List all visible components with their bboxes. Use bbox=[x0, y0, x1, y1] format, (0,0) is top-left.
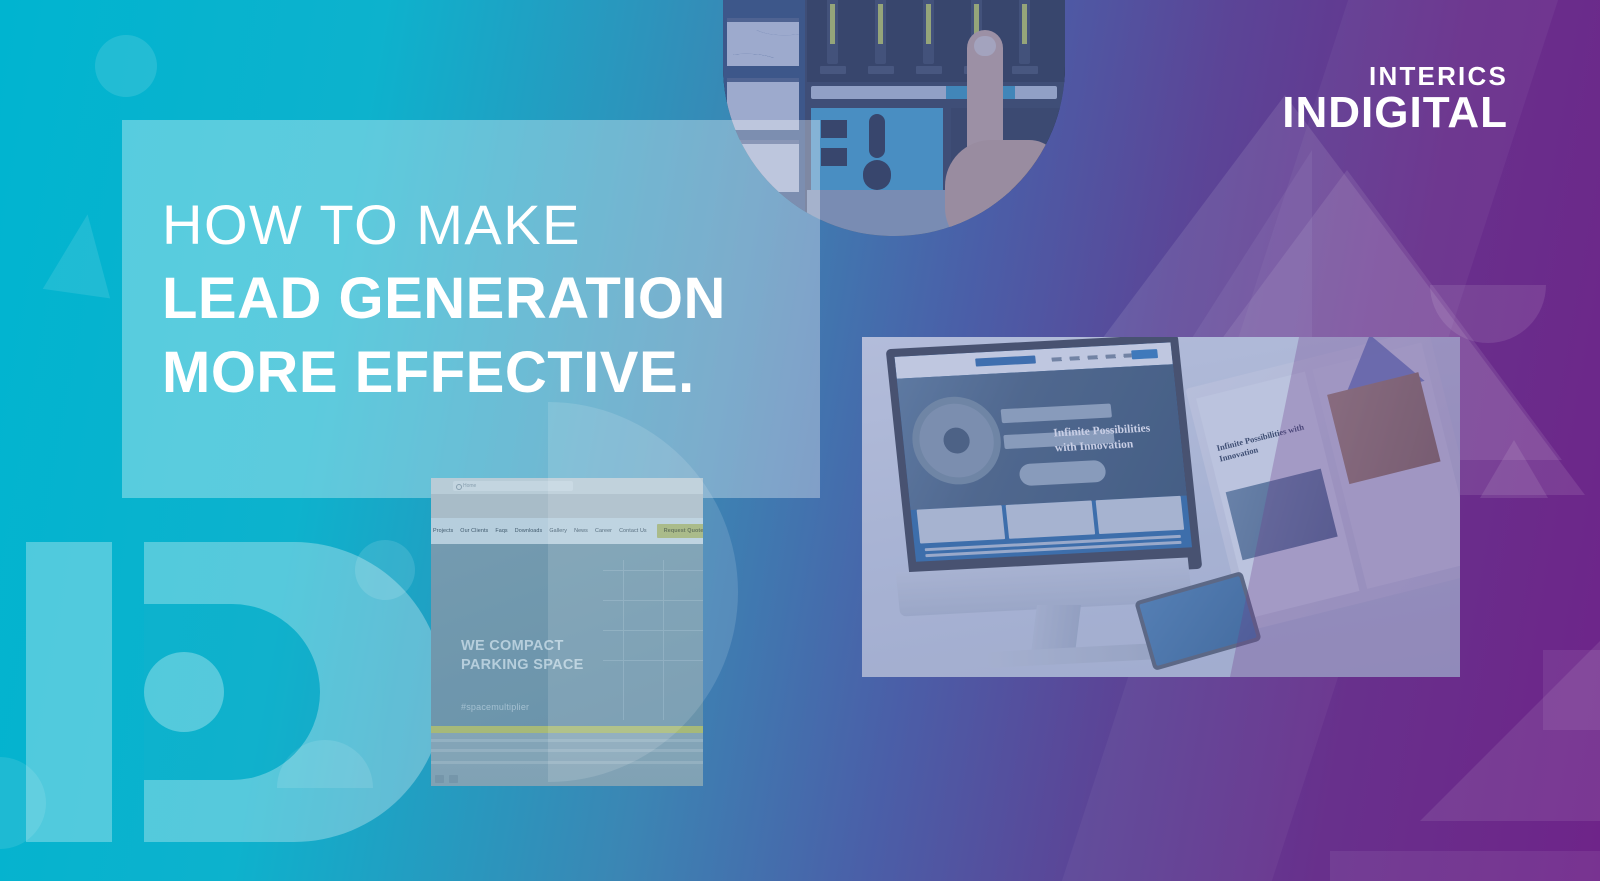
monogram-dot bbox=[144, 652, 224, 732]
square-decor-purple bbox=[1543, 650, 1600, 730]
brand-logo-line-2: INDIGITAL bbox=[1282, 90, 1508, 136]
photo-device-mockups: Infinite Possibilities with Innovation I… bbox=[862, 337, 1460, 677]
semicircle-decor-purple bbox=[1430, 285, 1546, 343]
headline-line-2: LEAD GENERATION bbox=[162, 262, 802, 336]
id-monogram-watermark bbox=[26, 542, 426, 881]
monogram-i-stroke bbox=[26, 542, 112, 842]
brand-logo-line-1: INTERICS bbox=[1282, 62, 1508, 90]
circle-decor-top-left bbox=[95, 35, 157, 97]
triangle-decor-left bbox=[43, 210, 121, 299]
page-title: HOW TO MAKE LEAD GENERATION MORE EFFECTI… bbox=[162, 188, 802, 410]
triangle-decor-tiny-purple bbox=[1480, 440, 1548, 498]
brand-logo: INTERICS INDIGITAL bbox=[1282, 62, 1508, 136]
bottom-band-decor bbox=[1330, 851, 1600, 881]
headline-line-1: HOW TO MAKE bbox=[162, 188, 802, 262]
headline-line-3: MORE EFFECTIVE. bbox=[162, 336, 802, 410]
marketing-banner: HOW TO MAKE LEAD GENERATION MORE EFFECTI… bbox=[0, 0, 1600, 881]
